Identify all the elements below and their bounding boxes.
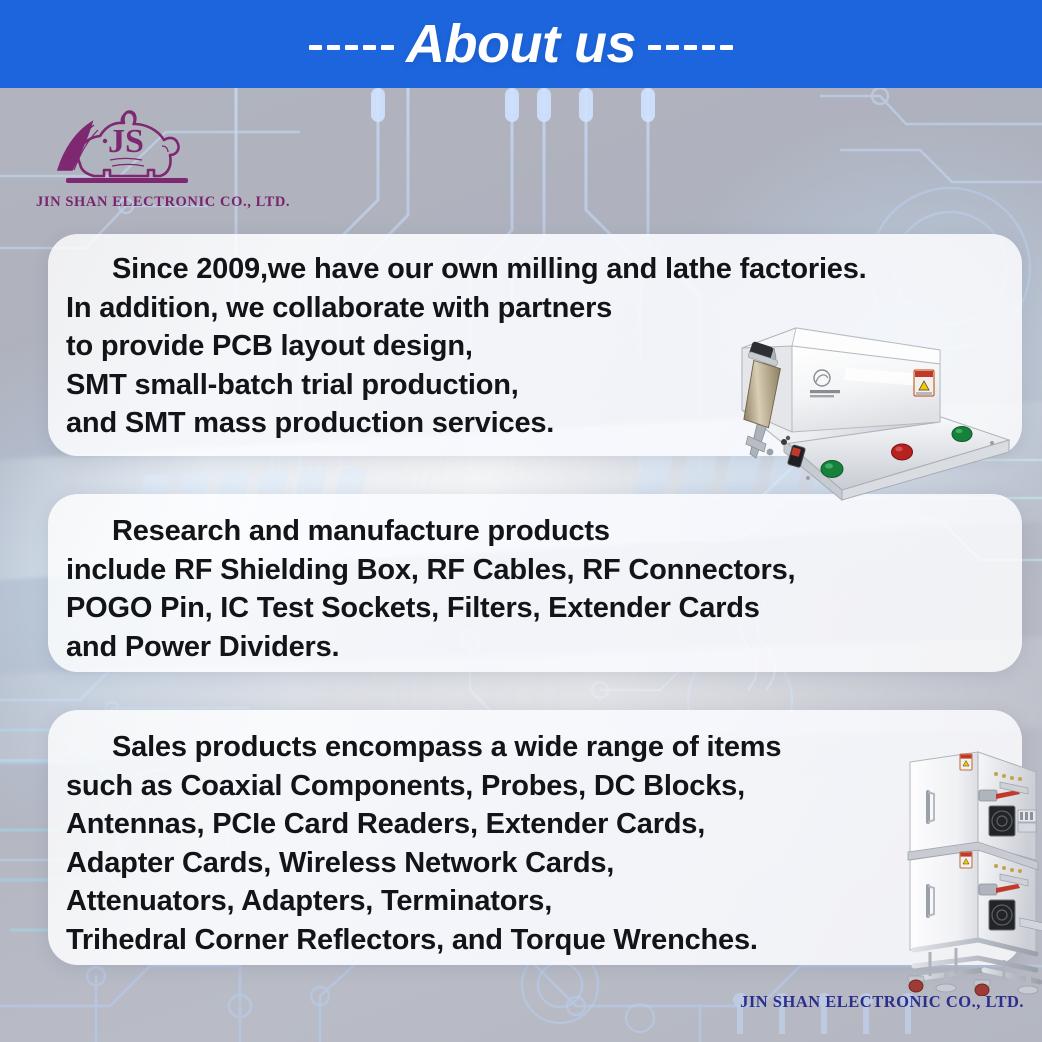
sales-products-text: Sales products encompass a wide range of… <box>66 728 1008 959</box>
text-segment: Adapter Cards, Wireless Network Cards, <box>66 847 614 879</box>
text-segment: Trihedral Corner Reflectors, and Torque … <box>66 924 758 956</box>
text-segment: Since 2009,we have our own milling and l… <box>112 253 867 285</box>
text-segment: POGO Pin, IC Test Sockets, Filters, Exte… <box>66 592 760 624</box>
logo-caption: JIN SHAN ELECTRONIC CO., LTD. <box>36 194 276 211</box>
about-us-page: About us <box>0 0 1042 1042</box>
text-segment: such as Coaxial Components, Probes, DC B… <box>66 770 745 802</box>
text-line: POGO Pin, IC Test Sockets, Filters, Exte… <box>66 589 1008 628</box>
text-line: Trihedral Corner Reflectors, and Torque … <box>66 921 1008 960</box>
text-line: include RF Shielding Box, RF Cables, RF … <box>66 551 1008 590</box>
dash-rule-left <box>309 45 394 50</box>
text-line: Adapter Cards, Wireless Network Cards, <box>66 844 1008 883</box>
text-segment: and Power Dividers. <box>66 631 339 663</box>
text-segment: and SMT mass production services. <box>66 407 554 439</box>
text-segment: encompass a wide range of items <box>317 731 781 763</box>
text-line: such as Coaxial Components, Probes, DC B… <box>66 767 1008 806</box>
text-segment: Sales products <box>112 731 317 763</box>
text-line: Sales products encompass a wide range of… <box>66 728 1008 767</box>
text-line: and Power Dividers. <box>66 628 1008 667</box>
text-line: Antennas, PCIe Card Readers, Extender Ca… <box>66 805 1008 844</box>
text-line: Since 2009,we have our own milling and l… <box>66 250 1008 289</box>
text-line: Research and manufacture products <box>66 512 1008 551</box>
svg-text:JS: JS <box>108 123 144 160</box>
footer-company-name: JIN SHAN ELECTRONIC CO., LTD. <box>740 992 1024 1012</box>
company-logo: JS JIN SHAN ELECTRONIC CO., LTD. <box>36 100 276 211</box>
sales-products-card: Sales products encompass a wide range of… <box>48 710 1022 965</box>
text-line: Attenuators, Adapters, Terminators, <box>66 882 1008 921</box>
research-manufacture-text: Research and manufacture productsinclude… <box>66 512 1008 666</box>
text-segment: to provide PCB layout design, <box>66 330 473 362</box>
page-title: About us <box>406 17 636 71</box>
text-segment: Antennas, PCIe Card Readers, Extender Ca… <box>66 808 705 840</box>
text-segment: In addition, we collaborate with partner… <box>66 292 612 324</box>
text-segment: SMT small-batch trial production, <box>66 369 519 401</box>
text-segment: Research and manufacture products <box>112 515 610 547</box>
rhinoceros-icon: JS <box>50 100 200 188</box>
rf-shielding-box-photo <box>726 312 1016 502</box>
research-manufacture-card: Research and manufacture productsinclude… <box>48 494 1022 672</box>
rf-shielding-cabinet-photo <box>900 748 1042 996</box>
page-header-band: About us <box>0 0 1042 88</box>
text-segment: Attenuators, Adapters, Terminators, <box>66 885 552 917</box>
text-segment: include RF Shielding Box, RF Cables, RF … <box>66 554 795 586</box>
dash-rule-right <box>648 45 733 50</box>
